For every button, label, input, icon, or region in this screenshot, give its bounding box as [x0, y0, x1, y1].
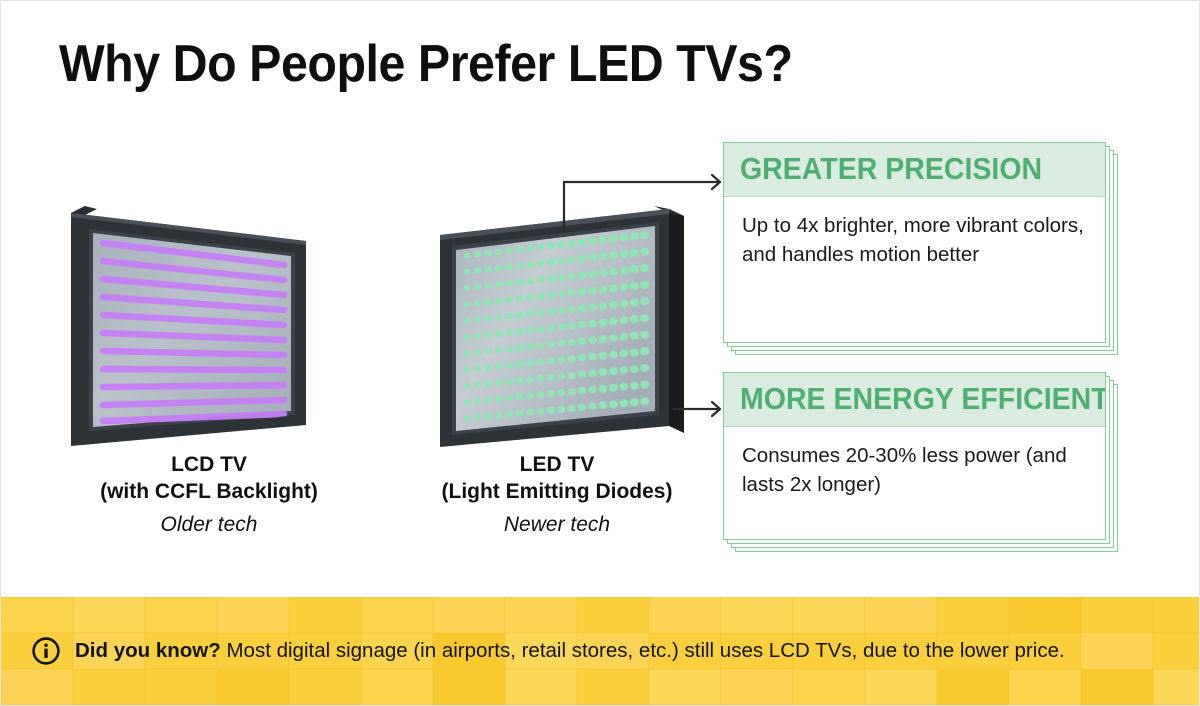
lcd-tv-subtitle: (with CCFL Backlight) — [49, 478, 369, 505]
lcd-tv-name: LCD TV — [49, 451, 369, 478]
callout-card-more-energy-efficient[interactable]: MORE ENERGY EFFICIENT Consumes 20-30% le… — [723, 372, 1123, 554]
card-heading: MORE ENERGY EFFICIENT — [740, 382, 1061, 416]
banner-body: Most digital signage (in airports, retai… — [221, 639, 1065, 662]
card-body: Up to 4x brighter, more vibrant colors, … — [724, 197, 1105, 283]
lcd-tv-svg — [63, 193, 353, 458]
banner-lead: Did you know? — [75, 639, 221, 662]
callout-card-greater-precision[interactable]: GREATER PRECISION Up to 4x brighter, mor… — [723, 142, 1123, 357]
led-tv-tech-note: Newer tech — [397, 513, 717, 537]
card-header: GREATER PRECISION — [724, 143, 1105, 197]
card-header: MORE ENERGY EFFICIENT — [724, 373, 1105, 427]
led-tv-subtitle: (Light Emitting Diodes) — [397, 478, 717, 505]
did-you-know-banner: Did you know? Most digital signage (in a… — [1, 597, 1200, 705]
card-heading: GREATER PRECISION — [740, 152, 1061, 186]
info-circle-icon — [31, 636, 61, 666]
led-tv-caption: LED TV (Light Emitting Diodes) Newer tec… — [397, 451, 717, 537]
led-tv-illustration — [426, 193, 706, 458]
lcd-tv-illustration — [63, 193, 353, 458]
infographic-canvas: Why Do People Prefer LED TVs? — [0, 0, 1200, 706]
led-tv-svg — [426, 193, 706, 458]
page-title: Why Do People Prefer LED TVs? — [59, 34, 793, 94]
card-front[interactable]: MORE ENERGY EFFICIENT Consumes 20-30% le… — [723, 372, 1106, 540]
led-tv-name: LED TV — [397, 451, 717, 478]
lcd-tv-tech-note: Older tech — [49, 513, 369, 537]
lcd-tv-caption: LCD TV (with CCFL Backlight) Older tech — [49, 451, 369, 537]
card-body: Consumes 20-30% less power (and lasts 2x… — [724, 427, 1105, 513]
card-front[interactable]: GREATER PRECISION Up to 4x brighter, mor… — [723, 142, 1106, 343]
banner-text: Did you know? Most digital signage (in a… — [75, 639, 1065, 663]
